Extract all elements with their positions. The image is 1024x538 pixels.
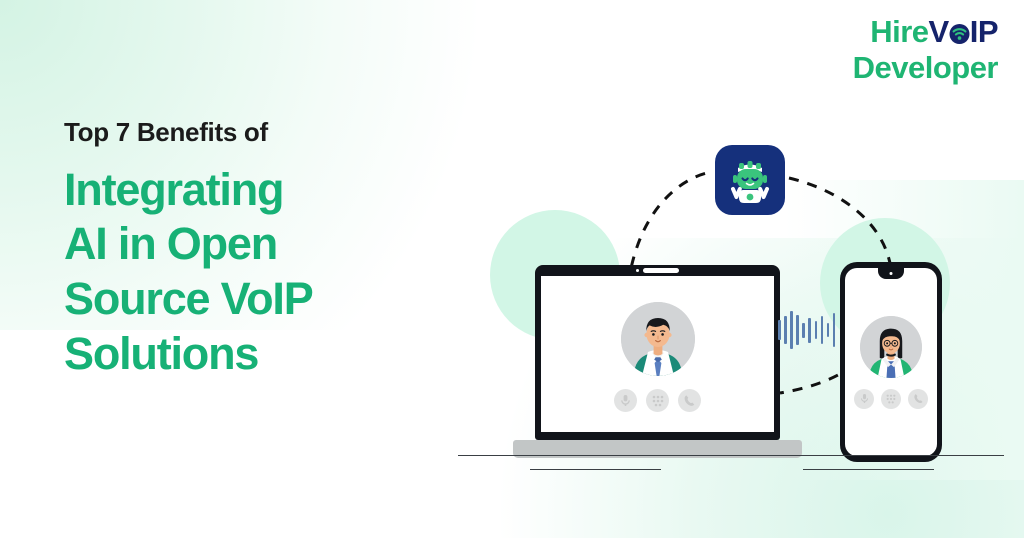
laptop-screen: [541, 276, 774, 432]
front-camera-icon: [888, 270, 895, 277]
robot-icon: [724, 154, 776, 206]
mobile-device[interactable]: [840, 262, 942, 462]
male-caller-avatar: [621, 302, 695, 376]
laptop-device[interactable]: [535, 265, 780, 458]
phone-call-controls: [854, 389, 928, 409]
phone-handset-icon: [683, 394, 696, 407]
microphone-button[interactable]: [854, 389, 874, 409]
laptop-call-controls: [614, 389, 701, 412]
phone-handset-icon: [913, 393, 924, 404]
laptop-top-bezel: [535, 268, 780, 273]
microphone-icon: [620, 394, 631, 407]
headline-line-3: Source VoIP: [64, 272, 313, 327]
laptop-shadow-line: [530, 469, 661, 470]
headline-block: Top 7 Benefits of Integrating AI in Open…: [64, 118, 313, 382]
microphone-button[interactable]: [614, 389, 637, 412]
microphone-icon: [860, 393, 869, 404]
audio-waveform: [778, 308, 835, 352]
female-caller-avatar: [860, 316, 922, 378]
ai-robot-badge[interactable]: [715, 145, 785, 215]
phone-shadow-line: [803, 469, 934, 470]
dialpad-icon: [652, 395, 664, 407]
dialpad-button[interactable]: [646, 389, 669, 412]
call-button[interactable]: [908, 389, 928, 409]
banner-root: HireVIP Developer Top 7 Benefits of Inte…: [0, 0, 1024, 538]
dialpad-button[interactable]: [881, 389, 901, 409]
camera-dot-icon: [636, 269, 640, 273]
speaker-bar: [643, 268, 679, 273]
ground-line: [458, 455, 1004, 456]
headline-main: Integrating AI in Open Source VoIP Solut…: [64, 163, 313, 383]
laptop-lid: [535, 265, 780, 440]
headline-line-2: AI in Open: [64, 217, 313, 272]
headline-kicker: Top 7 Benefits of: [64, 118, 313, 147]
call-button[interactable]: [678, 389, 701, 412]
headline-line-1: Integrating: [64, 163, 313, 218]
phone-screen: [845, 268, 937, 456]
dialpad-icon: [886, 394, 896, 404]
headline-line-4: Solutions: [64, 327, 313, 382]
hero-illustration: [440, 0, 1024, 538]
